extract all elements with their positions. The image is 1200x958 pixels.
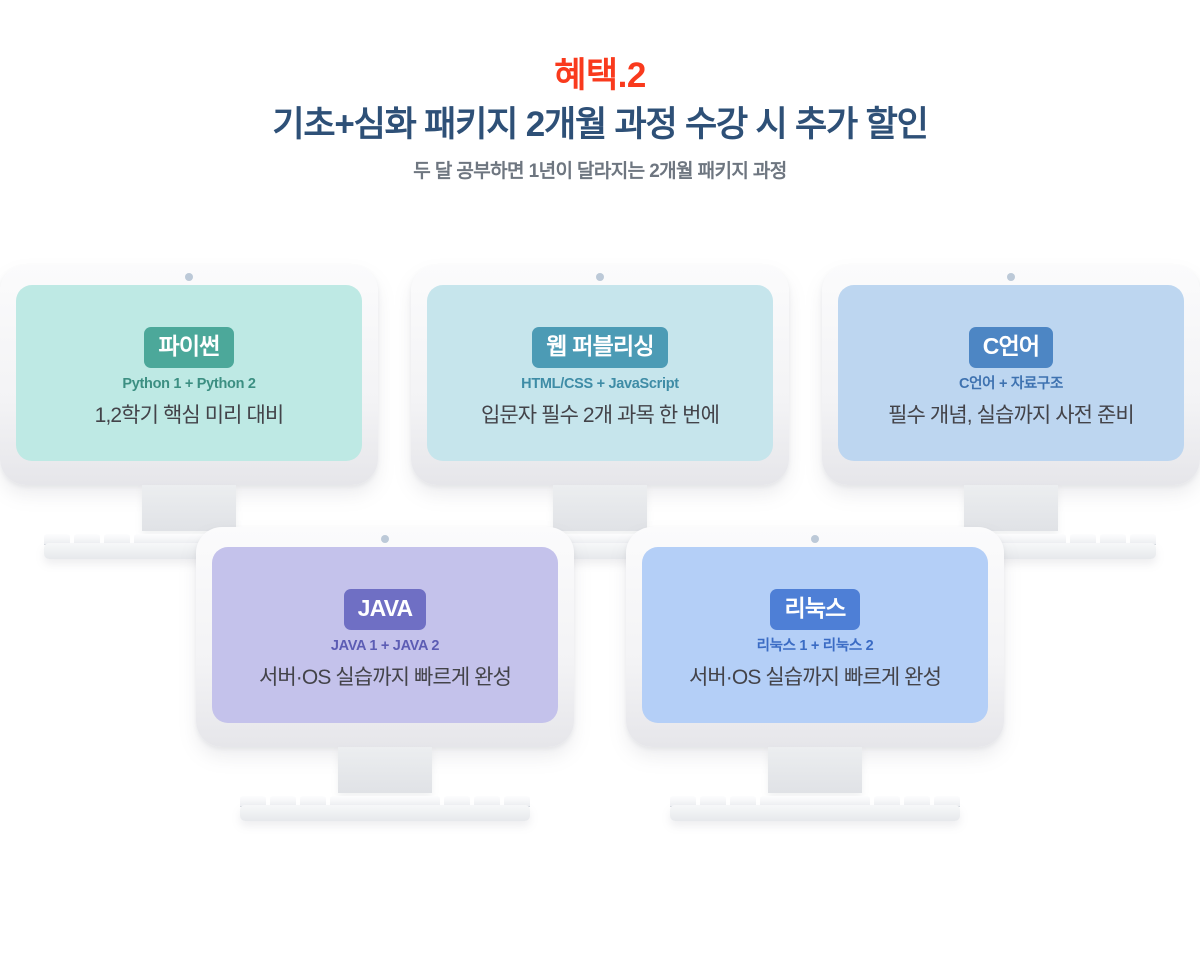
monitor-bezel: C언어 C언어 + 자료구조 필수 개념, 실습까지 사전 준비 bbox=[822, 265, 1200, 485]
course-desc: 서버·OS 실습까지 빠르게 완성 bbox=[259, 667, 511, 688]
webcam-dot-icon bbox=[185, 273, 193, 281]
course-desc: 서버·OS 실습까지 빠르게 완성 bbox=[689, 667, 941, 688]
monitor-bezel: 웹 퍼블리싱 HTML/CSS + JavaScript 입문자 필수 2개 과… bbox=[411, 265, 789, 485]
monitor-screen: 파이썬 Python 1 + Python 2 1,2학기 핵심 미리 대비 bbox=[16, 285, 362, 461]
webcam-dot-icon bbox=[596, 273, 604, 281]
course-combo: JAVA 1 + JAVA 2 bbox=[331, 639, 439, 654]
monitor-stand-neck bbox=[338, 747, 432, 793]
monitor-bezel: 리눅스 리눅스 1 + 리눅스 2 서버·OS 실습까지 빠르게 완성 bbox=[626, 527, 1004, 747]
keyboard bbox=[670, 793, 960, 823]
webcam-dot-icon bbox=[811, 535, 819, 543]
course-combo: HTML/CSS + JavaScript bbox=[521, 377, 679, 392]
course-desc: 1,2학기 핵심 미리 대비 bbox=[95, 405, 284, 426]
monitor-screen: 웹 퍼블리싱 HTML/CSS + JavaScript 입문자 필수 2개 과… bbox=[427, 285, 773, 461]
course-badge: 리눅스 bbox=[770, 589, 859, 630]
monitor-screen: 리눅스 리눅스 1 + 리눅스 2 서버·OS 실습까지 빠르게 완성 bbox=[642, 547, 988, 723]
monitor-stand-neck bbox=[142, 485, 236, 531]
course-card-java[interactable]: JAVA JAVA 1 + JAVA 2 서버·OS 실습까지 빠르게 완성 bbox=[196, 527, 574, 823]
course-combo: C언어 + 자료구조 bbox=[959, 377, 1063, 392]
course-badge: JAVA bbox=[344, 589, 427, 630]
monitor-bezel: JAVA JAVA 1 + JAVA 2 서버·OS 실습까지 빠르게 완성 bbox=[196, 527, 574, 747]
course-combo: Python 1 + Python 2 bbox=[122, 377, 255, 392]
course-monitor-stage: 파이썬 Python 1 + Python 2 1,2학기 핵심 미리 대비 bbox=[0, 0, 1200, 958]
course-badge: 웹 퍼블리싱 bbox=[532, 327, 667, 368]
keyboard-body bbox=[240, 805, 530, 821]
webcam-dot-icon bbox=[1007, 273, 1015, 281]
monitor-bezel: 파이썬 Python 1 + Python 2 1,2학기 핵심 미리 대비 bbox=[0, 265, 378, 485]
monitor-screen: C언어 C언어 + 자료구조 필수 개념, 실습까지 사전 준비 bbox=[838, 285, 1184, 461]
course-card-python[interactable]: 파이썬 Python 1 + Python 2 1,2학기 핵심 미리 대비 bbox=[0, 265, 378, 561]
keyboard bbox=[240, 793, 530, 823]
keyboard-body bbox=[670, 805, 960, 821]
course-combo: 리눅스 1 + 리눅스 2 bbox=[757, 639, 874, 654]
monitor-screen: JAVA JAVA 1 + JAVA 2 서버·OS 실습까지 빠르게 완성 bbox=[212, 547, 558, 723]
monitor-stand-neck bbox=[964, 485, 1058, 531]
course-desc: 필수 개념, 실습까지 사전 준비 bbox=[888, 405, 1134, 426]
course-card-clang[interactable]: C언어 C언어 + 자료구조 필수 개념, 실습까지 사전 준비 bbox=[822, 265, 1200, 561]
course-badge: 파이썬 bbox=[144, 327, 233, 368]
course-badge: C언어 bbox=[969, 327, 1054, 368]
monitor-stand-neck bbox=[553, 485, 647, 531]
course-card-linux[interactable]: 리눅스 리눅스 1 + 리눅스 2 서버·OS 실습까지 빠르게 완성 bbox=[626, 527, 1004, 823]
course-card-webpub[interactable]: 웹 퍼블리싱 HTML/CSS + JavaScript 입문자 필수 2개 과… bbox=[411, 265, 789, 561]
course-desc: 입문자 필수 2개 과목 한 번에 bbox=[481, 405, 719, 426]
webcam-dot-icon bbox=[381, 535, 389, 543]
monitor-stand-neck bbox=[768, 747, 862, 793]
